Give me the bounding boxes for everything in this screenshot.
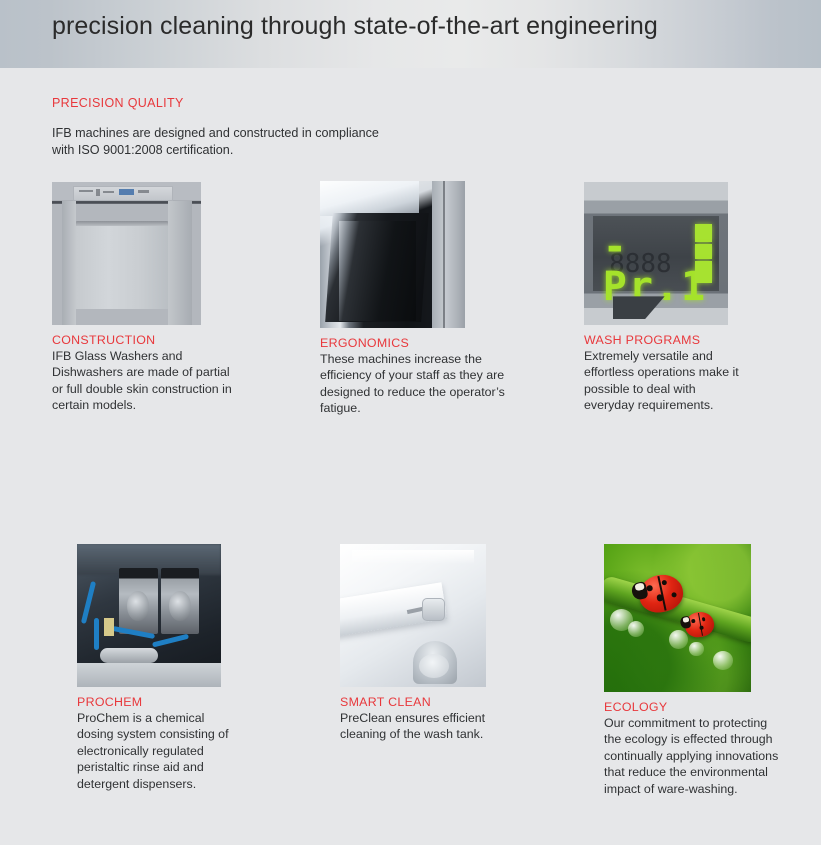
- card-title: ERGONOMICS: [320, 336, 535, 350]
- led-display-photo: 8888 -Pr.1: [584, 182, 728, 325]
- feature-card-wash-programs: 8888 -Pr.1 WASH PROGRAMS Extremely versa…: [584, 182, 799, 414]
- card-body: Our commitment to protecting the ecology…: [604, 715, 784, 797]
- feature-card-prochem: PROCHEM ProChem is a chemical dosing sys…: [77, 544, 292, 792]
- card-body: IFB Glass Washers and Dishwashers are ma…: [52, 348, 232, 414]
- ladybirds-on-leaf-photo: [604, 544, 751, 692]
- card-body: PreClean ensures efficient cleaning of t…: [340, 710, 510, 743]
- peristaltic-pumps-photo: [77, 544, 221, 687]
- page-header-banner: precision cleaning through state-of-the-…: [0, 0, 821, 68]
- card-body: These machines increase the efficiency o…: [320, 351, 505, 417]
- intro-kicker: PRECISION QUALITY: [52, 96, 472, 110]
- card-title: SMART CLEAN: [340, 695, 555, 709]
- open-door-photo: [320, 181, 465, 328]
- dishwasher-front-photo: [52, 182, 201, 325]
- card-title: ECOLOGY: [604, 700, 819, 714]
- card-title: WASH PROGRAMS: [584, 333, 799, 347]
- page-title: precision cleaning through state-of-the-…: [52, 12, 658, 41]
- intro-block: PRECISION QUALITY IFB machines are desig…: [52, 96, 472, 158]
- card-title: CONSTRUCTION: [52, 333, 267, 347]
- wash-tank-photo: [340, 544, 486, 687]
- feature-card-ergonomics: ERGONOMICS These machines increase the e…: [320, 181, 535, 417]
- card-title: PROCHEM: [77, 695, 292, 709]
- card-body: ProChem is a chemical dosing system cons…: [77, 710, 237, 792]
- card-body: Extremely versatile and effortless opera…: [584, 348, 742, 414]
- feature-card-ecology: ECOLOGY Our commitment to protecting the…: [604, 544, 819, 797]
- intro-body: IFB machines are designed and constructe…: [52, 125, 397, 158]
- feature-card-construction: CONSTRUCTION IFB Glass Washers and Dishw…: [52, 182, 267, 414]
- feature-card-smart-clean: SMART CLEAN PreClean ensures efficient c…: [340, 544, 555, 743]
- brochure-page: precision cleaning through state-of-the-…: [0, 0, 821, 845]
